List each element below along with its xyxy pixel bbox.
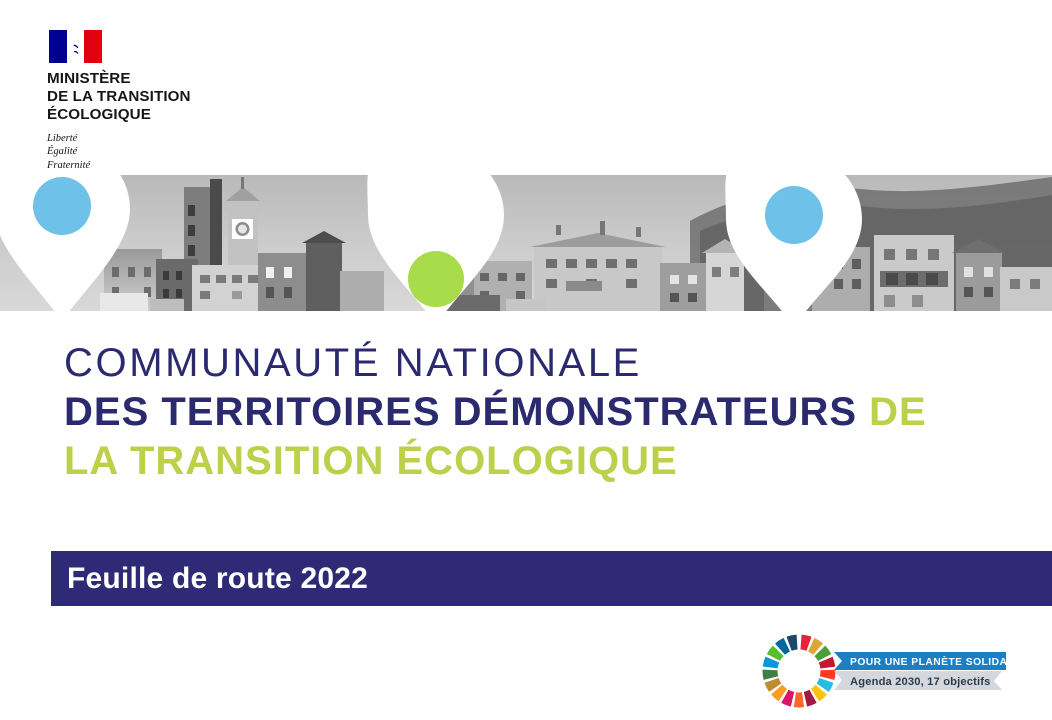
sdg-ribbon-top: POUR UNE PLANÈTE SOLIDAIRE	[834, 652, 1006, 670]
title-line-1: COMMUNAUTÉ NATIONALE	[64, 343, 1024, 383]
ministry-logo: MINISTÈRE DE LA TRANSITION ÉCOLOGIQUE Li…	[47, 30, 277, 173]
map-pin-left-dot	[33, 177, 91, 235]
photo-band	[0, 175, 1052, 311]
map-pin-center-dot	[408, 251, 464, 307]
title-line-2-green: DE	[869, 390, 927, 434]
roadmap-banner: Feuille de route 2022	[51, 551, 1052, 606]
ministry-name: MINISTÈRE DE LA TRANSITION ÉCOLOGIQUE	[47, 70, 277, 125]
roadmap-banner-text: Feuille de route 2022	[67, 562, 368, 596]
republic-motto: Liberté Égalité Fraternité	[47, 132, 277, 173]
marianne-profile-icon	[62, 33, 88, 60]
sdg-ribbon-title: POUR UNE PLANÈTE SOLIDAIRE	[850, 655, 1006, 668]
sdg-ribbon-subtitle: Agenda 2030, 17 objectifs	[850, 676, 991, 688]
french-tricolor-flag-icon	[49, 30, 102, 63]
map-pin-right-dot	[765, 186, 823, 244]
page-title: COMMUNAUTÉ NATIONALE DES TERRITOIRES DÉM…	[64, 343, 1024, 481]
title-line-2-navy: DES TERRITOIRES DÉMONSTRATEURS	[64, 390, 869, 434]
sdg-ribbon-bottom: Agenda 2030, 17 objectifs	[834, 671, 1002, 690]
title-line-2: DES TERRITOIRES DÉMONSTRATEURS DE	[64, 392, 1024, 432]
title-line-3: LA TRANSITION ÉCOLOGIQUE	[64, 441, 1024, 481]
sdg-color-wheel-icon	[758, 630, 840, 712]
sdg-logo: POUR UNE PLANÈTE SOLIDAIRE Agenda 2030, …	[756, 627, 1006, 715]
